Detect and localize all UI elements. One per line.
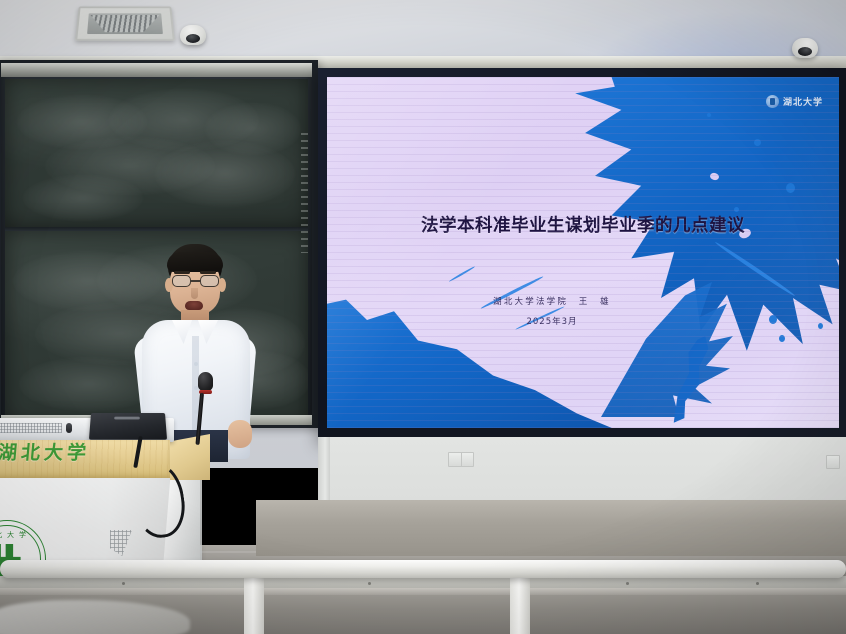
slide-affiliation: 湖北大学法学院 王 雄 bbox=[387, 295, 717, 307]
blackboard-top-rail bbox=[1, 63, 312, 77]
seal-chinese-name: 湖北大学 bbox=[0, 530, 46, 540]
shirt-button bbox=[194, 362, 198, 366]
shirt-button bbox=[194, 410, 198, 414]
air-conditioning-vent-icon bbox=[75, 7, 175, 41]
projection-screen-frame: 法学本科准毕业生谋划毕业季的几点建议 湖北大学法学院 王 雄 2025年3月 湖… bbox=[318, 68, 846, 440]
ink-droplet bbox=[769, 315, 777, 324]
ink-droplet bbox=[779, 335, 785, 342]
front-desk-surface bbox=[256, 500, 846, 556]
slide-date: 2025年3月 bbox=[387, 315, 717, 327]
eyeglasses-icon bbox=[172, 275, 219, 287]
ink-droplet bbox=[818, 323, 823, 329]
slide-title: 法学本科准毕业生谋划毕业季的几点建议 bbox=[327, 212, 839, 237]
blackboard-panel-upper bbox=[5, 79, 308, 227]
lecture-hall-scene: 法学本科准毕业生谋划毕业季的几点建议 湖北大学法学院 王 雄 2025年3月 湖… bbox=[0, 0, 846, 634]
presenter-fringe bbox=[167, 252, 223, 272]
microphone-icon bbox=[198, 372, 213, 391]
presenter-eyebrow bbox=[200, 271, 216, 274]
lectern-wood-side bbox=[170, 434, 210, 480]
ink-droplet bbox=[754, 139, 761, 146]
presentation-slide: 法学本科准毕业生谋划毕业季的几点建议 湖北大学法学院 王 雄 2025年3月 湖… bbox=[327, 77, 839, 428]
shirt-button bbox=[194, 386, 198, 390]
ink-droplet bbox=[707, 113, 711, 117]
speaker-grille-icon bbox=[0, 423, 62, 433]
presenter-ear bbox=[218, 278, 226, 292]
university-logo: 湖北大学 bbox=[766, 95, 823, 108]
dome-security-camera-icon bbox=[792, 38, 818, 58]
ink-droplet bbox=[786, 183, 795, 193]
presenter-mouth bbox=[185, 301, 203, 310]
bench-top-edge bbox=[0, 588, 846, 595]
control-knob[interactable] bbox=[66, 423, 72, 433]
vent-louvers bbox=[87, 13, 163, 34]
safety-railing bbox=[0, 560, 846, 578]
outlet-divider bbox=[461, 452, 462, 467]
university-logo-text: 湖北大学 bbox=[783, 95, 823, 108]
presenter-eyebrow bbox=[174, 271, 190, 274]
lectern-university-name: 湖北大学 bbox=[0, 444, 91, 463]
laptop[interactable] bbox=[89, 413, 167, 440]
ink-streak bbox=[449, 266, 476, 283]
wall-power-outlet[interactable] bbox=[826, 455, 840, 469]
university-emblem-icon bbox=[766, 95, 779, 108]
blackboard-side-strip bbox=[301, 133, 308, 253]
dome-security-camera-icon bbox=[180, 25, 206, 45]
presenter-nose bbox=[191, 288, 198, 299]
